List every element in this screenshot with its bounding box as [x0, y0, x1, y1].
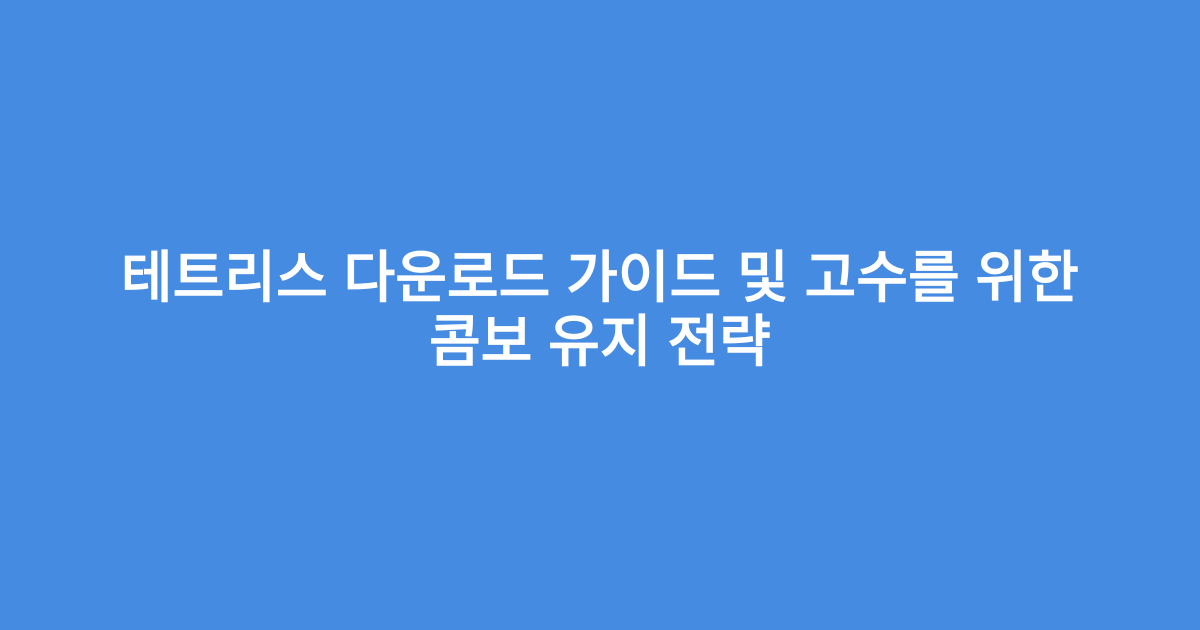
og-banner-card: 테트리스 다운로드 가이드 및 고수를 위한 콤보 유지 전략	[0, 0, 1200, 630]
page-title: 테트리스 다운로드 가이드 및 고수를 위한 콤보 유지 전략	[95, 246, 1105, 374]
banner-content: 테트리스 다운로드 가이드 및 고수를 위한 콤보 유지 전략	[95, 246, 1105, 374]
